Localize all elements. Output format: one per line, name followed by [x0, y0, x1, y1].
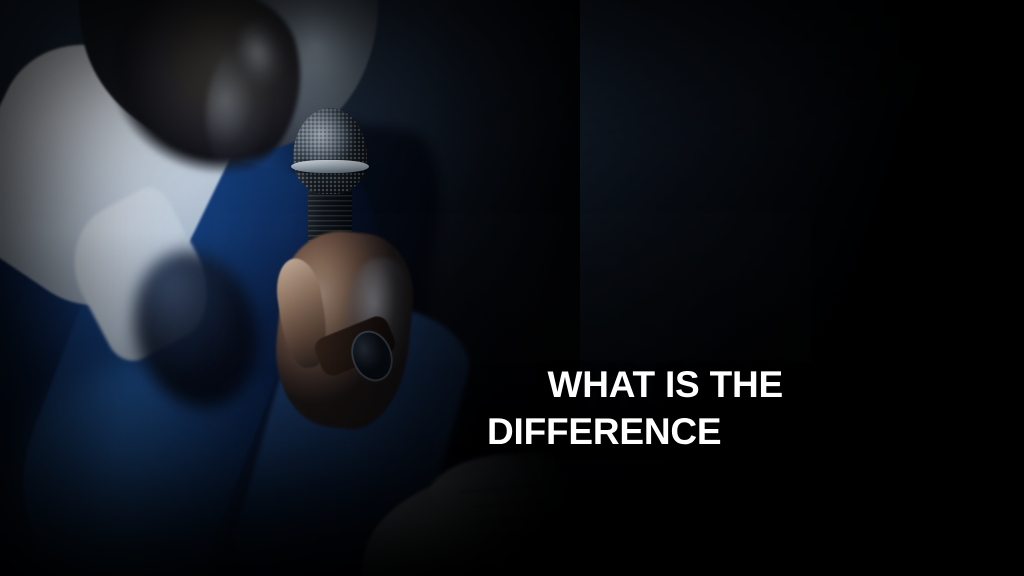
banner-image: WHAT IS THE DIFFERENCE BETWEEN PUBLIC SP…	[0, 0, 1024, 576]
headline-text-white: WHAT IS THE DIFFERENCE	[487, 364, 793, 452]
headline-title: WHAT IS THE DIFFERENCE BETWEEN PUBLIC SP…	[487, 223, 992, 576]
headline-line-1: WHAT IS THE DIFFERENCE	[487, 316, 992, 502]
